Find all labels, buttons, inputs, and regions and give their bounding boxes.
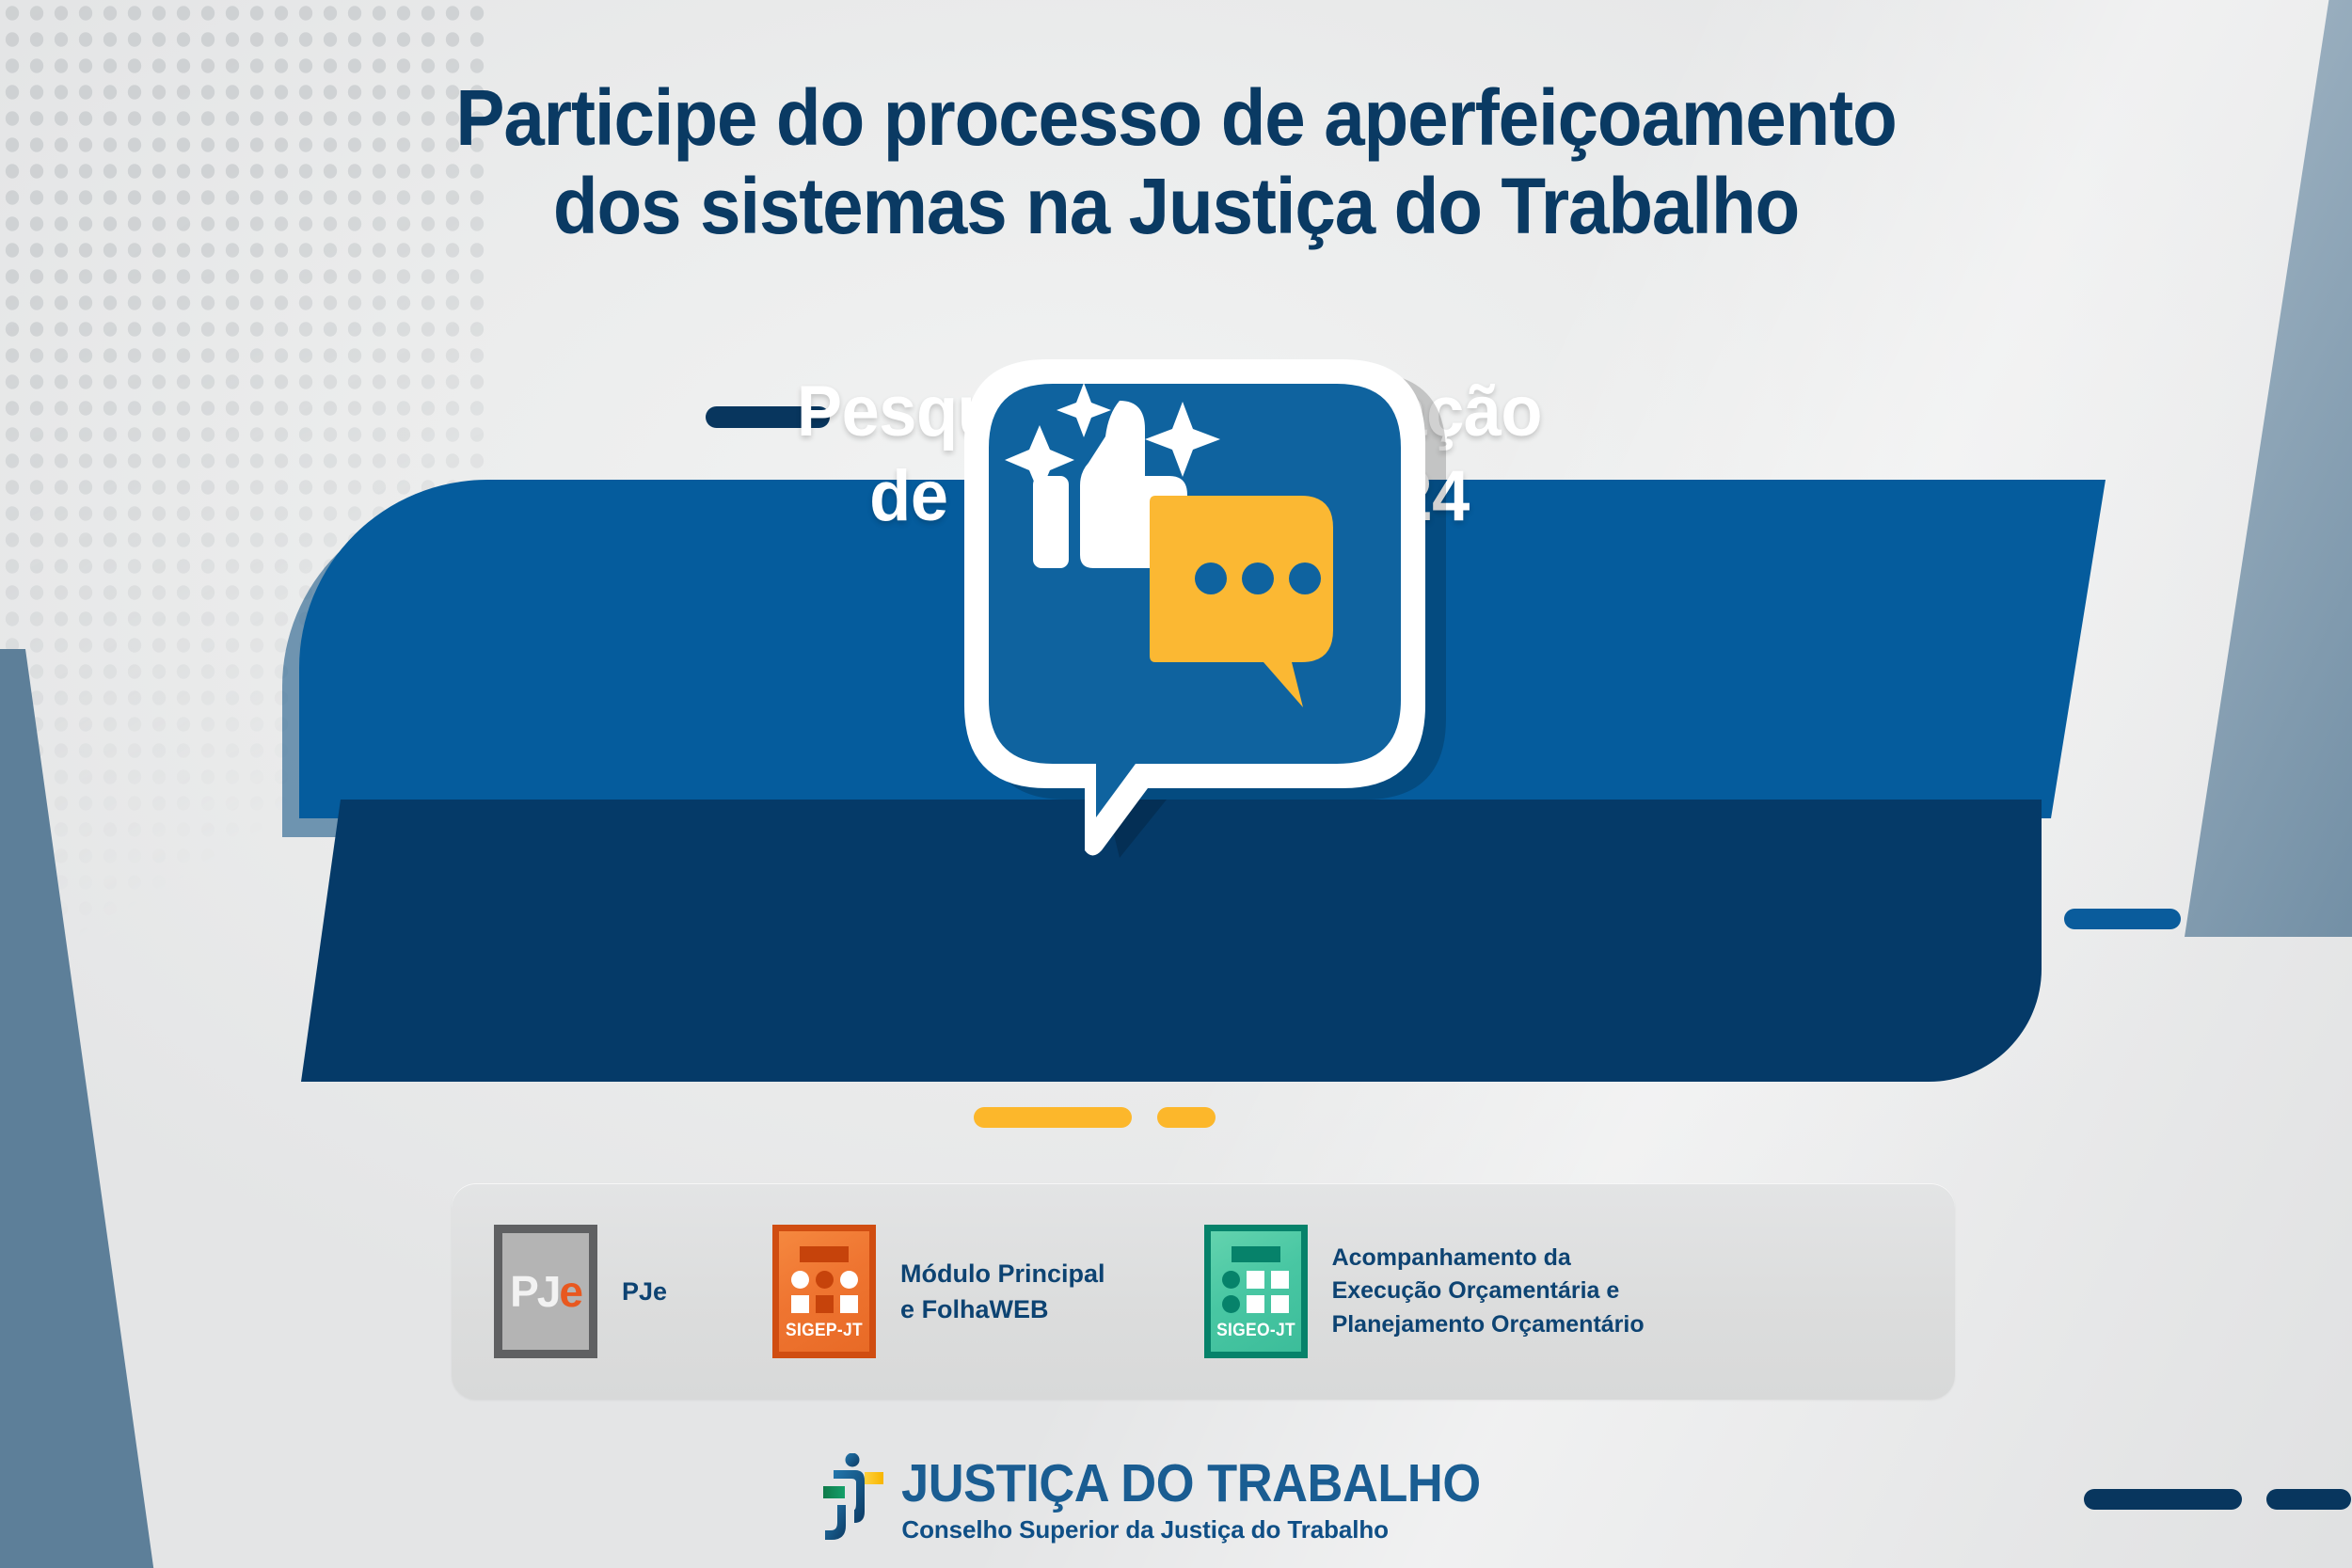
feedback-speech-bubble-icon xyxy=(927,331,1454,858)
systems-panel: PJe PJe SIGEP-JT Módulo Prin xyxy=(452,1183,1955,1400)
tile-cell-icon xyxy=(840,1295,858,1313)
footer-subtitle: Conselho Superior da Justiça do Trabalho xyxy=(901,1516,1531,1544)
justica-do-trabalho-logo-mark xyxy=(820,1453,886,1547)
pje-logo-primary: PJ xyxy=(510,1267,559,1316)
tile-cell-icon xyxy=(1247,1295,1264,1313)
pje-logo-accent: e xyxy=(559,1267,581,1316)
tile-cell-icon xyxy=(1271,1295,1289,1313)
footer: JUSTIÇA DO TRABALHO Conselho Superior da… xyxy=(0,1453,2352,1547)
system-label-sigeo: Acompanhamento da Execução Orçamentária … xyxy=(1332,1242,1645,1342)
tile-row-one xyxy=(1222,1271,1289,1289)
tile-bar-icon xyxy=(1232,1246,1280,1262)
tile-cell-icon xyxy=(1222,1271,1240,1289)
poster-canvas: Participe do processo de aperfeiçoamento… xyxy=(0,0,2352,1568)
page-title: Participe do processo de aperfeiçoamento… xyxy=(83,73,2270,250)
tile-cell-icon xyxy=(1222,1295,1240,1313)
footer-title: JUSTIÇA DO TRABALHO xyxy=(901,1457,1481,1511)
decorative-dash-yellow-short xyxy=(1157,1107,1216,1128)
tile-row-squares xyxy=(791,1295,858,1313)
system-item-sigeo[interactable]: SIGEO-JT Acompanhamento da Execução Orça… xyxy=(1204,1225,1645,1358)
sigep-jt-logo: SIGEP-JT xyxy=(772,1225,876,1358)
tile-cell-icon xyxy=(840,1271,858,1289)
tile-cell-icon xyxy=(1247,1271,1264,1289)
system-label-pje: PJe xyxy=(622,1274,667,1309)
tile-cell-icon xyxy=(816,1271,834,1289)
system-item-pje[interactable]: PJe PJe xyxy=(494,1225,667,1358)
tile-cell-icon xyxy=(1271,1271,1289,1289)
tile-cell-icon xyxy=(791,1271,809,1289)
tile-cell-icon xyxy=(791,1295,809,1313)
tile-bar-icon xyxy=(800,1246,849,1262)
tile-row-two xyxy=(1222,1295,1289,1313)
system-label-sigep: Módulo Principal e FolhaWEB xyxy=(900,1256,1105,1328)
tile-row-circles xyxy=(791,1271,858,1289)
decorative-dash-yellow-long xyxy=(974,1107,1132,1128)
sigeo-jt-logo-text: SIGEO-JT xyxy=(1214,1321,1296,1341)
pje-logo: PJe xyxy=(494,1225,597,1358)
tile-cell-icon xyxy=(816,1295,834,1313)
system-item-sigep[interactable]: SIGEP-JT Módulo Principal e FolhaWEB xyxy=(772,1225,1105,1358)
sigep-jt-logo-text: SIGEP-JT xyxy=(783,1321,866,1341)
sigeo-jt-logo: SIGEO-JT xyxy=(1204,1225,1308,1358)
